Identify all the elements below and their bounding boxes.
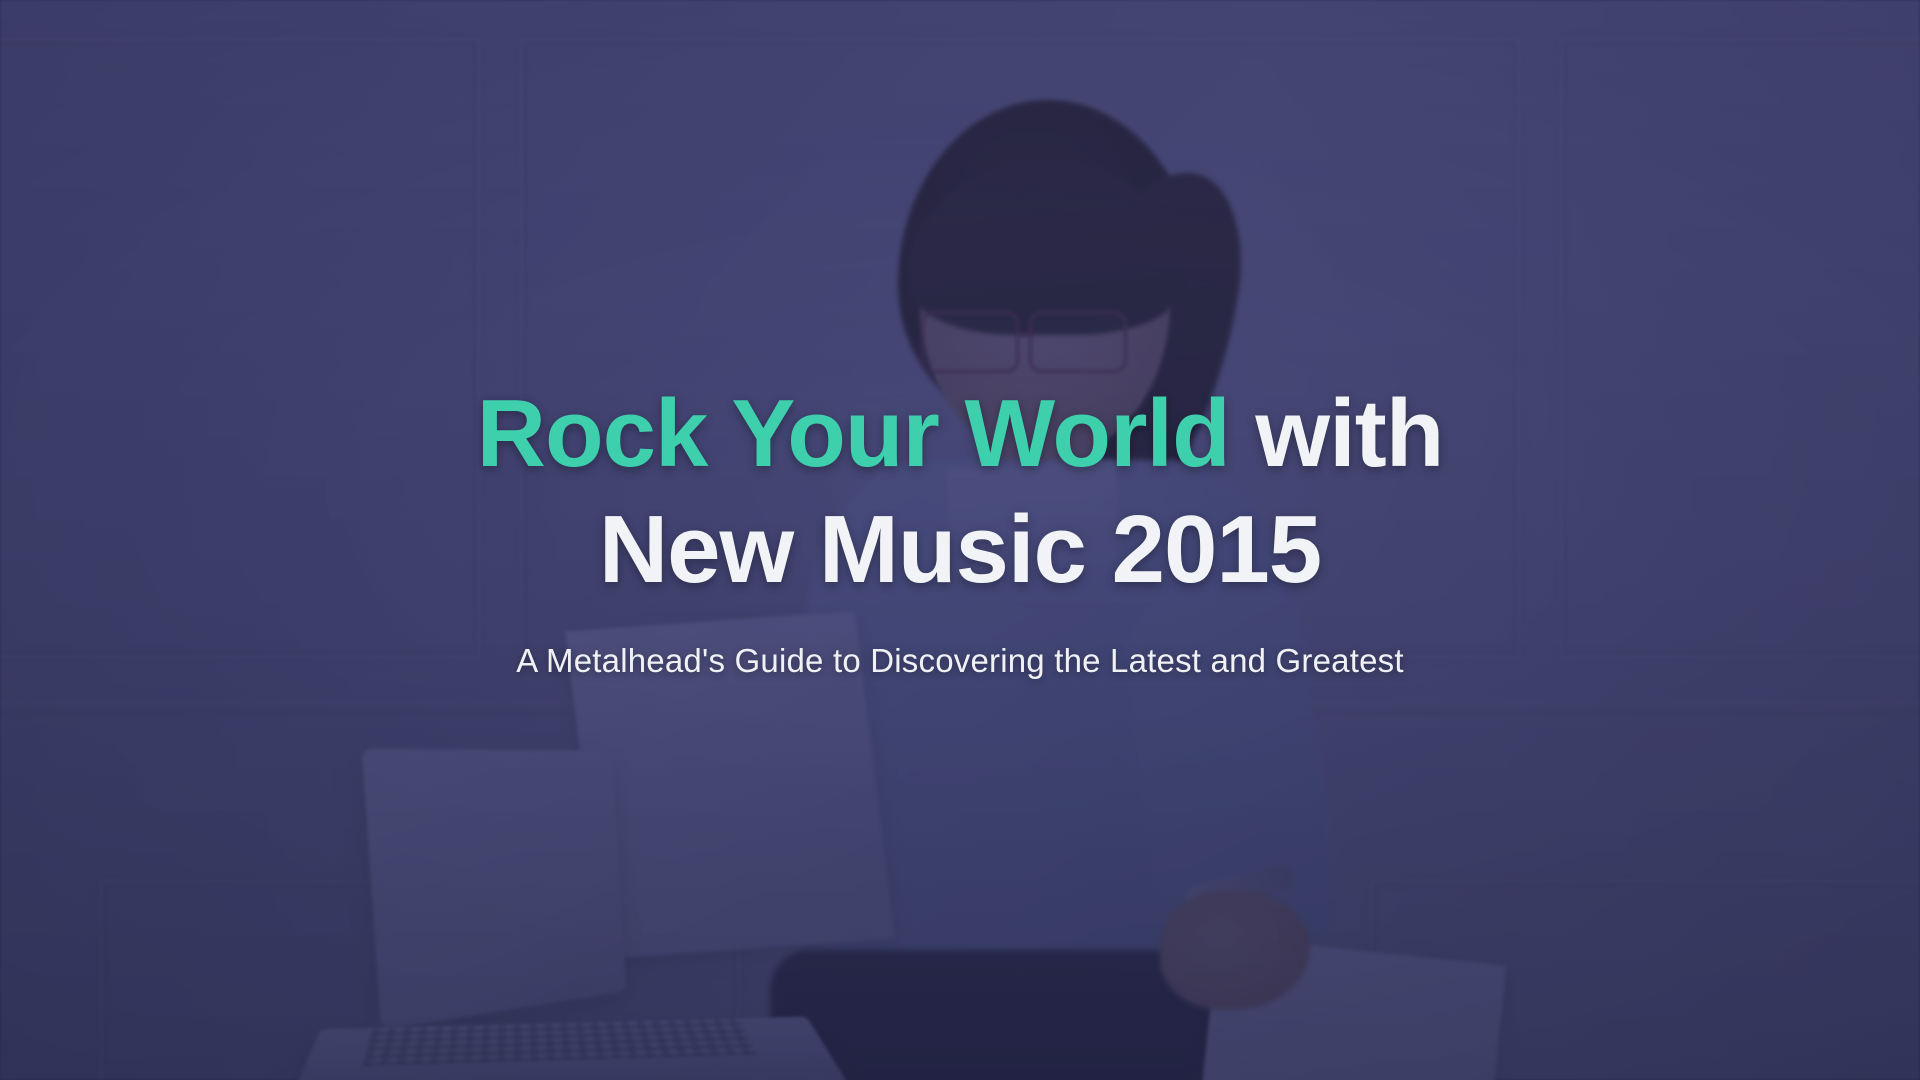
headline-accent-text: Rock Your World (477, 380, 1230, 487)
headline-line-1-rest: with (1230, 380, 1444, 487)
hero-content: Rock Your World with New Music 2015 A Me… (0, 0, 1920, 1080)
hero-subtitle: A Metalhead's Guide to Discovering the L… (516, 642, 1403, 680)
headline-line-1: Rock Your World with (477, 378, 1444, 490)
hero-banner: Rock Your World with New Music 2015 A Me… (0, 0, 1920, 1080)
headline-line-2: New Music 2015 (599, 494, 1321, 606)
